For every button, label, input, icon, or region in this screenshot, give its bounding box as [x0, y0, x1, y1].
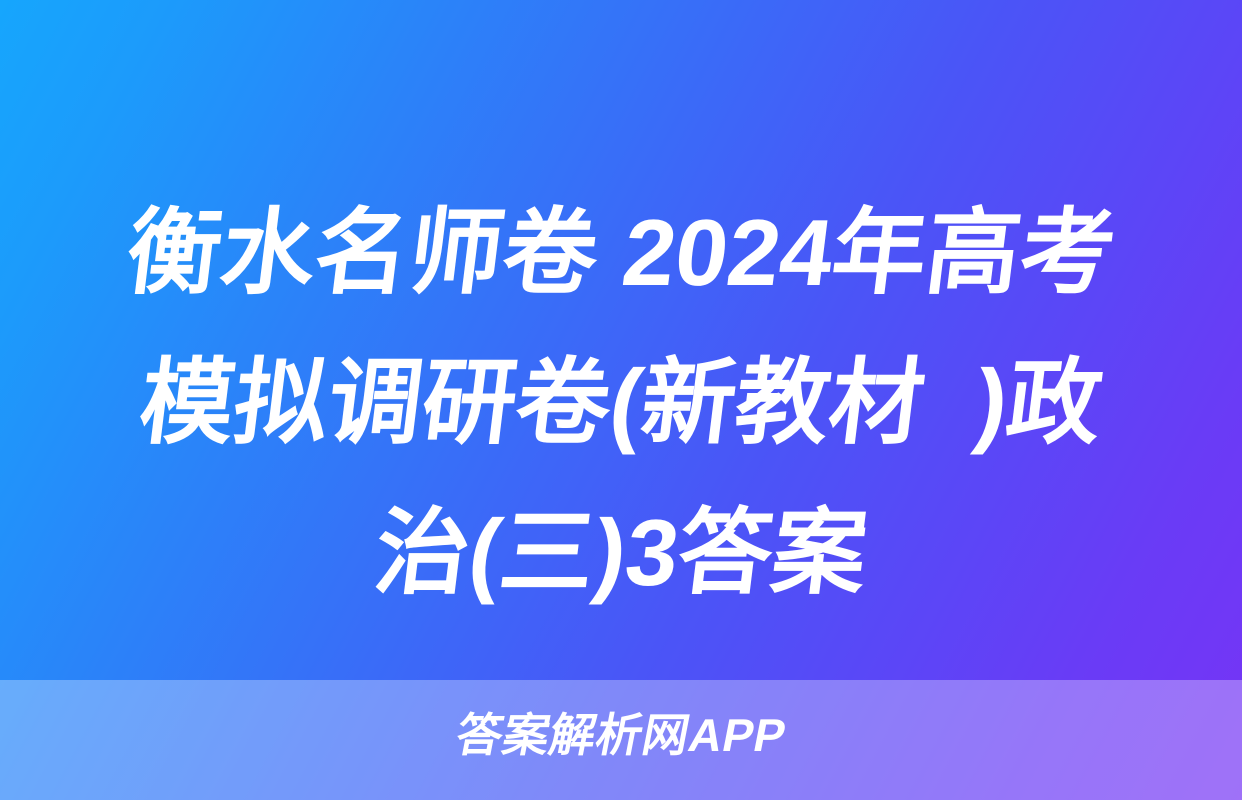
page-title: 衡水名师卷 2024年高考 模拟调研卷(新教材 )政 治(三)3答案	[0, 178, 1242, 628]
footer-brand: 答案解析网APP	[0, 703, 1242, 767]
poster-canvas: 衡水名师卷 2024年高考 模拟调研卷(新教材 )政 治(三)3答案 答案解析网…	[0, 0, 1242, 800]
title-line-2: 模拟调研卷(新教材 )政	[53, 328, 1189, 478]
title-line-3: 治(三)3答案	[53, 478, 1189, 628]
brand-name-label: 答案解析网APP	[451, 707, 790, 763]
title-line-1: 衡水名师卷 2024年高考	[53, 178, 1189, 328]
